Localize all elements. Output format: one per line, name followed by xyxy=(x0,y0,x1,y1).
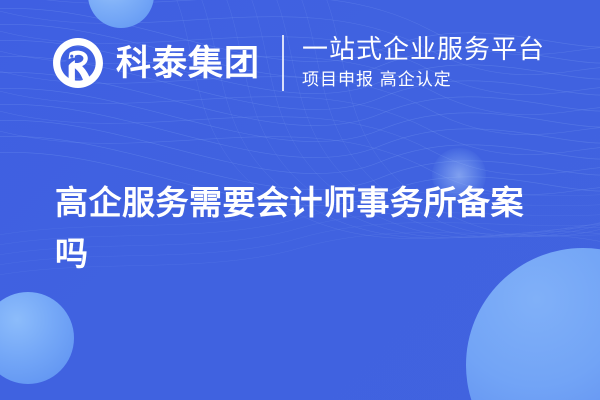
header-divider xyxy=(282,35,284,91)
banner-header: 科泰集团 一站式企业服务平台 项目申报 高企认定 xyxy=(52,30,545,96)
tagline-sub: 项目申报 高企认定 xyxy=(302,68,545,92)
brand-name: 科泰集团 xyxy=(116,46,260,81)
tagline-block: 一站式企业服务平台 项目申报 高企认定 xyxy=(302,35,545,92)
page-title: 高企服务需要会计师事务所备案吗 xyxy=(55,177,555,279)
ketai-circular-logo-icon xyxy=(52,37,104,89)
tagline-main: 一站式企业服务平台 xyxy=(302,35,545,65)
promo-banner: 科泰集团 一站式企业服务平台 项目申报 高企认定 高企服务需要会计师事务所备案吗 xyxy=(0,0,600,400)
